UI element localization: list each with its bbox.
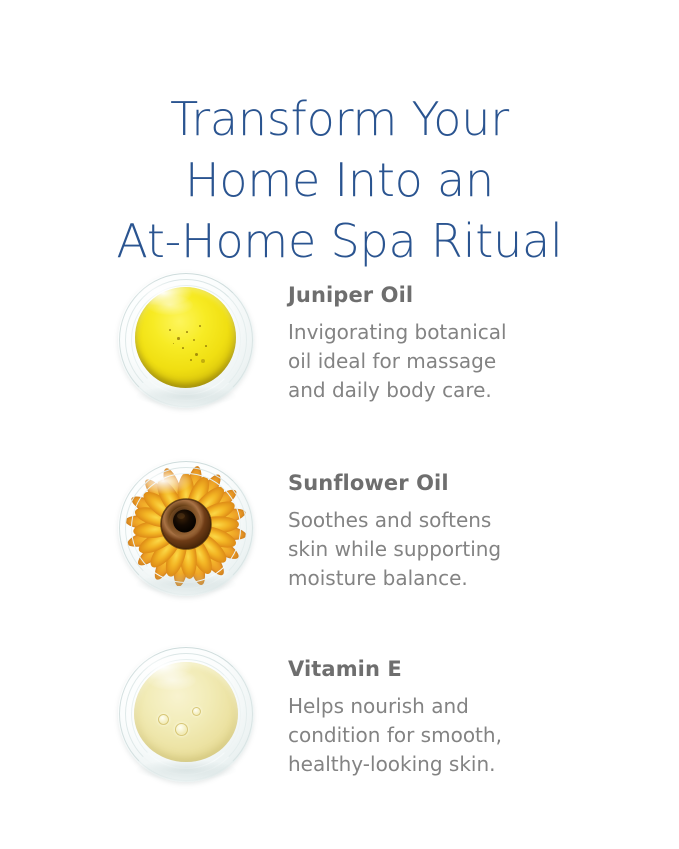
oil-speck [199, 325, 201, 327]
description-line: oil ideal for massage [288, 347, 578, 376]
oil-speck [186, 331, 188, 333]
ingredient-title: Sunflower Oil [288, 470, 578, 496]
ingredient-copy: Juniper Oil Invigorating botanical oil i… [288, 282, 578, 405]
description-line: condition for smooth, [288, 721, 578, 750]
ingredient-item-sunflower-oil: Sunflower Oil Soothes and softens skin w… [0, 456, 679, 640]
description-line: skin while supporting [288, 535, 578, 564]
oil-bubble [175, 723, 188, 736]
oil-speck [201, 359, 205, 363]
oil-speck [177, 337, 180, 340]
ingredient-list: Juniper Oil Invigorating botanical oil i… [0, 272, 679, 830]
oil-speck [190, 359, 192, 361]
ingredient-copy: Sunflower Oil Soothes and softens skin w… [288, 470, 578, 593]
headline-line-3: At-Home Spa Ritual [0, 211, 679, 272]
ingredient-title: Juniper Oil [288, 282, 578, 308]
ingredient-item-juniper-oil: Juniper Oil Invigorating botanical oil i… [0, 272, 679, 456]
description-line: Invigorating botanical [288, 318, 578, 347]
ingredient-copy: Vitamin E Helps nourish and condition fo… [288, 656, 578, 779]
description-line: Soothes and softens [288, 506, 578, 535]
description-line: and daily body care. [288, 376, 578, 405]
oil-speck [195, 353, 198, 356]
description-line: moisture balance. [288, 564, 578, 593]
oil-speck [205, 345, 207, 347]
ingredient-description: Soothes and softens skin while supportin… [288, 506, 578, 593]
glass-shadow [136, 760, 236, 780]
oil-speck [193, 339, 195, 341]
ingredient-description: Helps nourish and condition for smooth, … [288, 692, 578, 779]
description-line: Helps nourish and [288, 692, 578, 721]
glass-highlight [134, 654, 192, 680]
oil-bubble [192, 707, 201, 716]
glass-shadow [136, 574, 236, 594]
headline-line-2: Home Into an [0, 150, 679, 211]
oil-speck [169, 329, 171, 331]
ingredient-description: Invigorating botanical oil ideal for mas… [288, 318, 578, 405]
description-line: healthy-looking skin. [288, 750, 578, 779]
glass-highlight [134, 280, 192, 306]
oil-bubble [158, 714, 169, 725]
ingredient-item-vitamin-e: Vitamin E Helps nourish and condition fo… [0, 640, 679, 830]
oil-speck [182, 347, 184, 349]
juniper-oil-dish-image [118, 272, 254, 408]
sunflower-dish-image [118, 460, 254, 596]
headline-line-1: Transform Your [0, 89, 679, 150]
oil-speck [173, 343, 174, 344]
glass-highlight [134, 468, 192, 494]
ingredient-benefits-page: Transform Your Home Into an At-Home Spa … [0, 0, 679, 849]
page-title: Transform Your Home Into an At-Home Spa … [0, 89, 679, 272]
glass-shadow [136, 386, 236, 406]
vitamin-e-dish-image [118, 646, 254, 782]
ingredient-title: Vitamin E [288, 656, 578, 682]
